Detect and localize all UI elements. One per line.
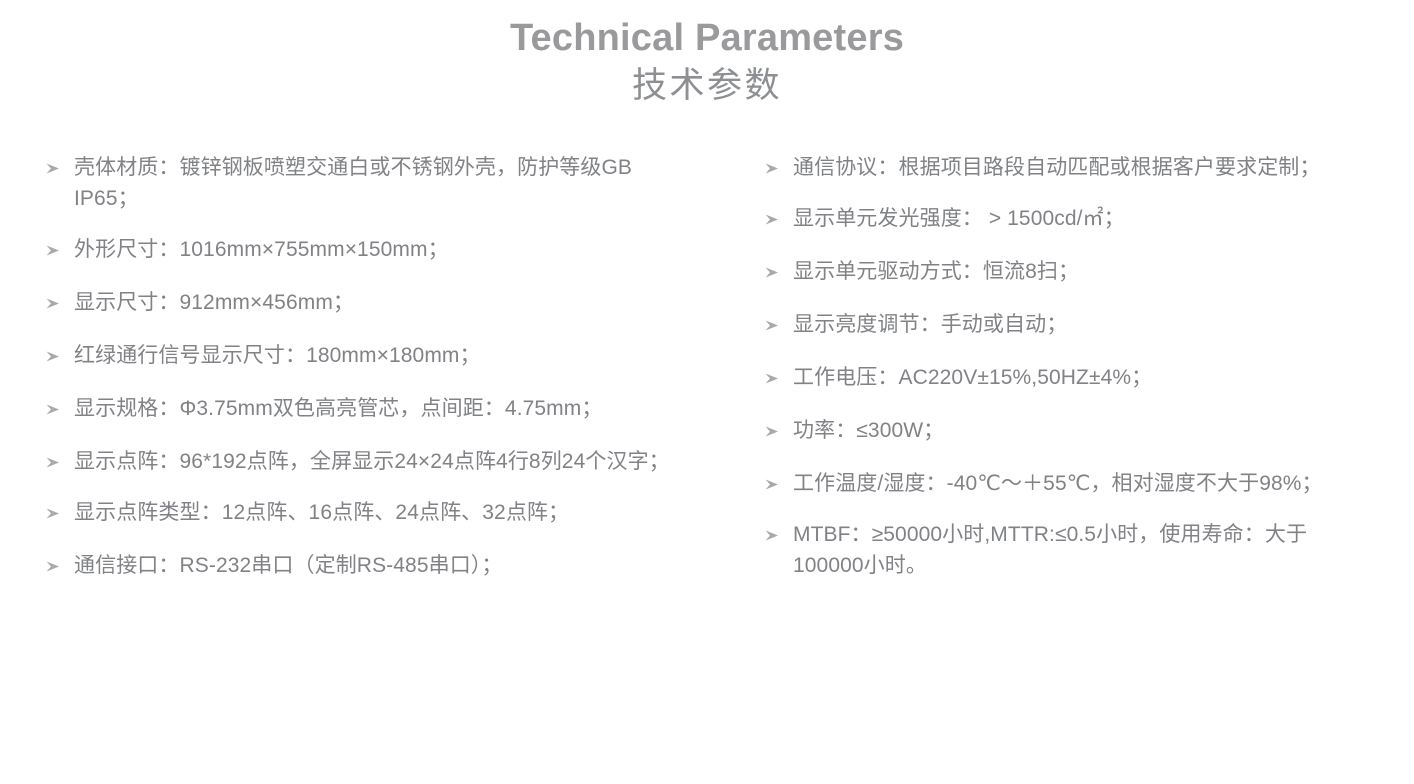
spec-item-text: 显示单元发光强度： > 1500cd/㎡； — [793, 203, 1361, 234]
arrow-right-triangle-icon — [46, 287, 74, 309]
page-header: Technical Parameters 技术参数 — [0, 0, 1414, 108]
spec-item: 壳体材质：镀锌钢板喷塑交通白或不锈钢外壳，防护等级GB IP65； — [46, 152, 700, 214]
spec-item-text: 显示尺寸：912mm×456mm； — [74, 287, 674, 318]
arrow-right-triangle-icon — [765, 152, 793, 174]
spec-item: 红绿通行信号显示尺寸：180mm×180mm； — [46, 340, 700, 371]
spec-item: MTBF：≥50000小时,MTTR:≤0.5小时，使用寿命：大于100000小… — [765, 519, 1374, 581]
arrow-right-triangle-icon — [765, 309, 793, 331]
page-title-english: Technical Parameters — [0, 16, 1414, 61]
spec-columns: 壳体材质：镀锌钢板喷塑交通白或不锈钢外壳，防护等级GB IP65； 外形尺寸：1… — [0, 152, 1414, 603]
spec-item-text: 显示点阵：96*192点阵，全屏显示24×24点阵4行8列24个汉字； — [74, 446, 674, 477]
spec-item-text: 显示规格：Φ3.75mm双色高亮管芯，点间距：4.75mm； — [74, 393, 674, 424]
arrow-right-triangle-icon — [46, 393, 74, 415]
spec-item-text: 工作温度/湿度：-40℃～＋55℃，相对湿度不大于98%； — [793, 468, 1361, 499]
spec-item: 工作温度/湿度：-40℃～＋55℃，相对湿度不大于98%； — [765, 468, 1374, 499]
spec-item: 通信协议：根据项目路段自动匹配或根据客户要求定制； — [765, 152, 1374, 183]
technical-parameters-page: Technical Parameters 技术参数 壳体材质：镀锌钢板喷塑交通白… — [0, 0, 1414, 784]
arrow-right-triangle-icon — [765, 362, 793, 384]
arrow-right-triangle-icon — [46, 550, 74, 572]
arrow-right-triangle-icon — [46, 446, 74, 468]
spec-item-text: 通信协议：根据项目路段自动匹配或根据客户要求定制； — [793, 152, 1361, 183]
spec-item: 显示单元驱动方式：恒流8扫； — [765, 256, 1374, 287]
spec-item-text: 外形尺寸：1016mm×755mm×150mm； — [74, 234, 674, 265]
arrow-right-triangle-icon — [46, 497, 74, 519]
spec-item: 外形尺寸：1016mm×755mm×150mm； — [46, 234, 700, 265]
spec-item-text: 显示亮度调节：手动或自动； — [793, 309, 1361, 340]
spec-item: 工作电压：AC220V±15%,50HZ±4%； — [765, 362, 1374, 393]
spec-item: 显示尺寸：912mm×456mm； — [46, 287, 700, 318]
arrow-right-triangle-icon — [765, 415, 793, 437]
spec-item-text: 工作电压：AC220V±15%,50HZ±4%； — [793, 362, 1361, 393]
spec-item-text: 红绿通行信号显示尺寸：180mm×180mm； — [74, 340, 674, 371]
arrow-right-triangle-icon — [46, 234, 74, 256]
spec-item-text: 显示点阵类型：12点阵、16点阵、24点阵、32点阵； — [74, 497, 674, 528]
spec-item: 功率：≤300W； — [765, 415, 1374, 446]
arrow-right-triangle-icon — [765, 256, 793, 278]
spec-item: 显示单元发光强度： > 1500cd/㎡； — [765, 203, 1374, 234]
arrow-right-triangle-icon — [46, 152, 74, 174]
spec-item: 显示点阵类型：12点阵、16点阵、24点阵、32点阵； — [46, 497, 700, 528]
page-title-chinese: 技术参数 — [0, 63, 1414, 109]
arrow-right-triangle-icon — [765, 468, 793, 490]
spec-column-right: 通信协议：根据项目路段自动匹配或根据客户要求定制； 显示单元发光强度： > 15… — [710, 152, 1414, 601]
spec-item-text: 功率：≤300W； — [793, 415, 1361, 446]
arrow-right-triangle-icon — [765, 203, 793, 225]
spec-item-text: 壳体材质：镀锌钢板喷塑交通白或不锈钢外壳，防护等级GB IP65； — [74, 152, 674, 214]
spec-item-text: 显示单元驱动方式：恒流8扫； — [793, 256, 1361, 287]
spec-item-text: MTBF：≥50000小时,MTTR:≤0.5小时，使用寿命：大于100000小… — [793, 519, 1361, 581]
spec-item: 通信接口：RS-232串口（定制RS-485串口）； — [46, 550, 700, 581]
spec-item: 显示规格：Φ3.75mm双色高亮管芯，点间距：4.75mm； — [46, 393, 700, 424]
spec-item: 显示点阵：96*192点阵，全屏显示24×24点阵4行8列24个汉字； — [46, 446, 700, 477]
spec-item-text: 通信接口：RS-232串口（定制RS-485串口）； — [74, 550, 674, 581]
arrow-right-triangle-icon — [765, 519, 793, 541]
spec-item: 显示亮度调节：手动或自动； — [765, 309, 1374, 340]
arrow-right-triangle-icon — [46, 340, 74, 362]
spec-column-left: 壳体材质：镀锌钢板喷塑交通白或不锈钢外壳，防护等级GB IP65； 外形尺寸：1… — [0, 152, 710, 603]
